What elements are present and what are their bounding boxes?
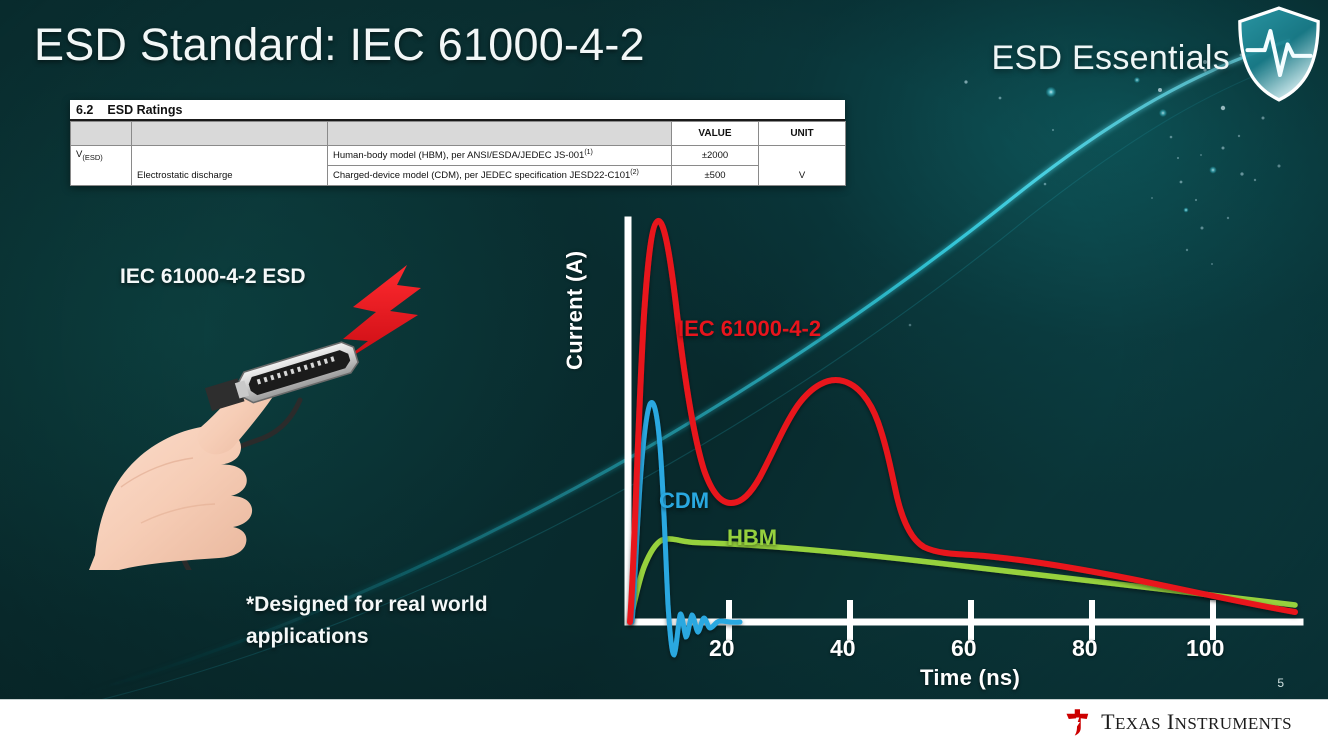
symbol-cell-continued [71,166,132,186]
header-description-cell [328,122,672,146]
series-cdm-curve [632,403,740,655]
table-grid: VALUE UNIT V(ESD) Human-body model (HBM)… [70,121,846,186]
chart-axes [628,220,1300,622]
series-annotation-iec: IEC 61000-4-2 [678,316,821,342]
x-tick-label-40: 40 [830,635,856,662]
table-header-row: VALUE UNIT [71,122,846,146]
value-cell-cdm: ±500 [672,166,759,186]
header-value-cell: VALUE [672,122,759,146]
hdmi-connector-icon [204,339,361,415]
ti-instruments-rest: NSTRUMENTS [1175,714,1292,733]
series-iec-curve [630,221,1295,622]
section-number: 6.2 [76,103,93,117]
series-annotation-hbm: HBM [727,525,777,551]
ti-texas-rest: EXAS [1115,714,1161,733]
x-tick-label-80: 80 [1072,635,1098,662]
symbol-cell: V(ESD) [71,146,132,166]
texas-instruments-logo-icon [1062,707,1092,737]
section-title: ESD Ratings [107,103,182,117]
symbol-subscript: (ESD) [82,153,102,162]
header-parameter-cell [132,122,328,146]
x-tick-label-100: 100 [1186,635,1224,662]
esd-ratings-table: 6.2 ESD Ratings VALUE UNIT V(ESD) Human-… [70,100,845,186]
footnote-marker: (2) [630,169,639,176]
esd-waveform-chart [560,185,1328,695]
value-cell-hbm: ±2000 [672,146,759,166]
x-tick-label-20: 20 [709,635,735,662]
slide-canvas: ESD Standard: IEC 61000-4-2 ESD Essentia… [0,0,1328,746]
description-text: Human-body model (HBM), per ANSI/ESDA/JE… [333,150,584,161]
header-unit-cell: UNIT [759,122,846,146]
description-cell-hbm: Human-body model (HBM), per ANSI/ESDA/JE… [328,146,672,166]
illustration-note: *Designed for real world applications [246,589,546,652]
parameter-cell-text: Electrostatic discharge [132,166,328,186]
unit-cell-text: V [759,166,846,186]
chart-x-axis-label: Time (ns) [920,665,1020,691]
footnote-marker: (1) [584,149,593,156]
slide-footer: TEXAS INSTRUMENTS [0,699,1328,746]
brand-label: ESD Essentials [991,39,1230,78]
brand-lockup: ESD Essentials [991,14,1322,102]
page-title: ESD Standard: IEC 61000-4-2 [34,19,645,71]
chart-y-axis-label: Current (A) [562,200,588,370]
table-row: Electrostatic discharge Charged-device m… [71,166,846,186]
shield-pulse-icon [1236,6,1322,102]
unit-cell [759,146,846,166]
table-row: V(ESD) Human-body model (HBM), per ANSI/… [71,146,846,166]
slide-number: 5 [1277,676,1284,690]
esd-hand-illustration [85,255,435,570]
ti-instruments-initial: I [1167,709,1175,734]
description-text: Charged-device model (CDM), per JEDEC sp… [333,170,630,181]
header-symbol-cell [71,122,132,146]
ti-texas-initial: T [1101,709,1115,734]
table-section-header: 6.2 ESD Ratings [70,100,845,121]
description-cell-cdm: Charged-device model (CDM), per JEDEC sp… [328,166,672,186]
series-annotation-cdm: CDM [659,488,709,514]
parameter-cell [132,146,328,166]
texas-instruments-logo: TEXAS INSTRUMENTS [1062,707,1292,737]
texas-instruments-wordmark: TEXAS INSTRUMENTS [1101,709,1292,735]
x-tick-label-60: 60 [951,635,977,662]
